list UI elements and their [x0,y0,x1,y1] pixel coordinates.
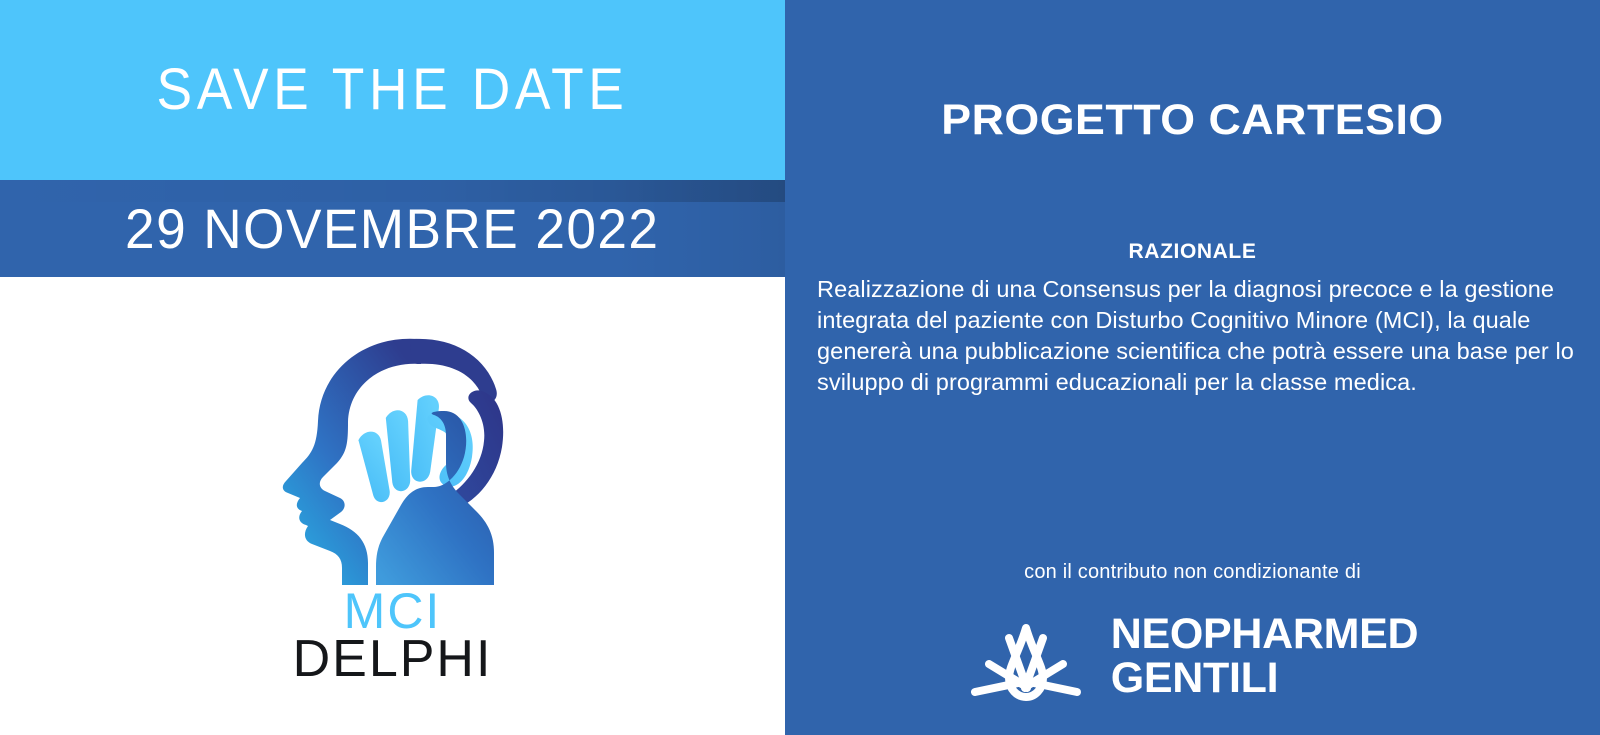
sponsor-logo: NEOPHARMED GENTILI [785,608,1600,704]
contribution-note: con il contributo non condizionante di [785,561,1600,584]
rationale-paragraph: Realizzazione di una Consensus per la di… [817,274,1577,398]
wordmark-delphi: DELPHI [293,635,493,685]
sponsor-name-line-2: GENTILI [1111,656,1419,700]
neopharmed-fan-leaf-icon [967,608,1085,704]
event-date-band: 29 NOVEMBRE 2022 [0,180,785,277]
rationale-section-label: RAZIONALE [785,240,1600,264]
sponsor-name-line-1: NEOPHARMED [1111,612,1419,656]
sponsor-name: NEOPHARMED GENTILI [1111,612,1419,701]
mci-delphi-logo-area: MCI DELPHI [0,277,785,735]
mci-delphi-wordmark: MCI DELPHI [293,587,493,685]
head-with-hand-icon [268,295,518,585]
page-title: PROGETTO CARTESIO [769,96,1600,145]
left-panel: SAVE THE DATE 29 NOVEMBRE 2022 [0,0,785,735]
wordmark-mci: MCI [293,587,493,635]
save-the-date-heading: SAVE THE DATE [157,61,629,119]
poster-canvas: SAVE THE DATE 29 NOVEMBRE 2022 [0,0,1600,735]
save-the-date-band: SAVE THE DATE [0,0,785,180]
right-panel: PROGETTO CARTESIO RAZIONALE Realizzazion… [785,0,1600,735]
event-date-text: 29 NOVEMBRE 2022 [125,201,659,257]
